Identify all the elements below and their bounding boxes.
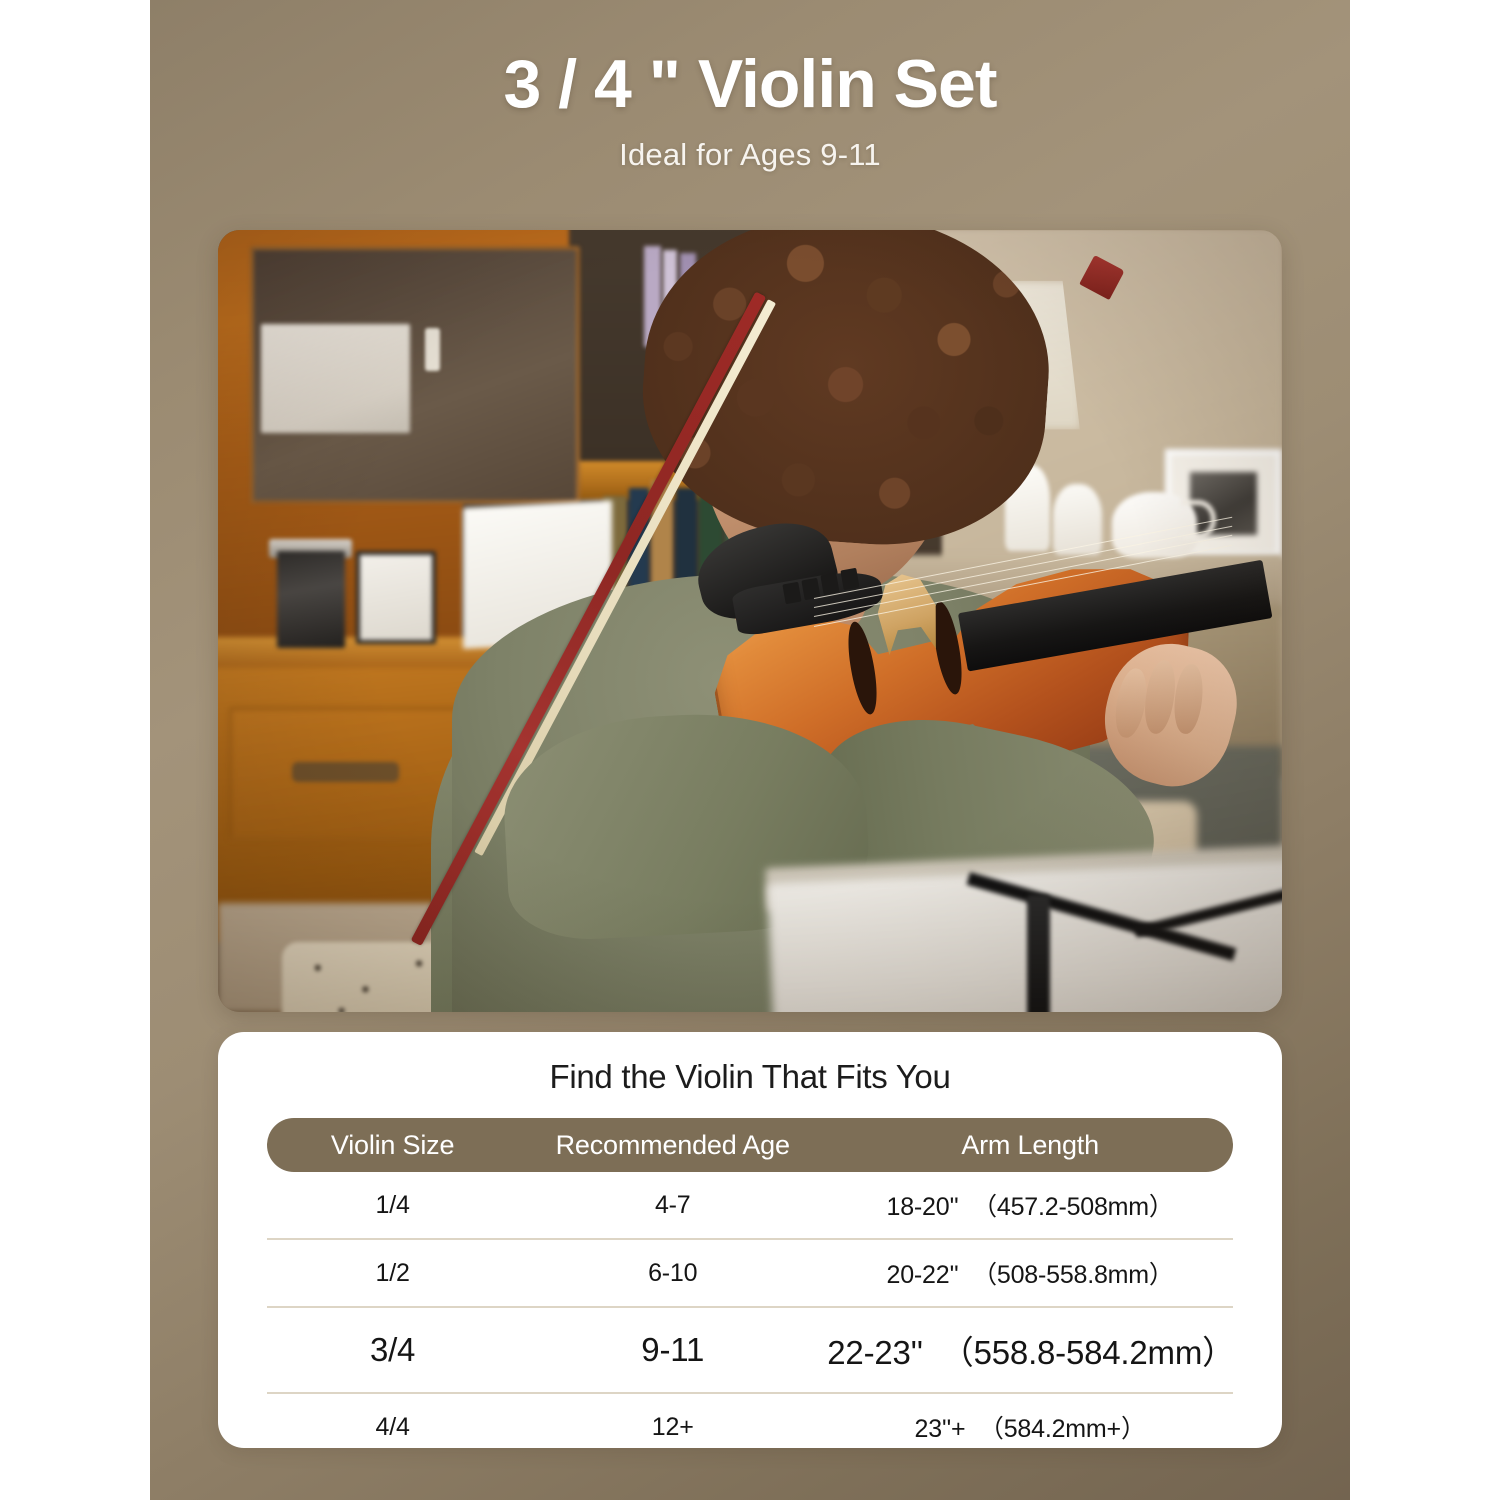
page-margin-right [1350, 0, 1500, 1500]
cell-recommended-age: 4-7 [518, 1191, 827, 1220]
violin-fine-tuner [840, 568, 859, 591]
cell-arm-length: 18-20'' （457.2-508mm） [827, 1187, 1233, 1223]
cell-recommended-age: 12+ [518, 1413, 827, 1442]
cell-violin-size: 3/4 [267, 1331, 518, 1369]
size-table-card: Find the Violin That Fits You Violin Siz… [218, 1032, 1282, 1448]
table-row: 4/4 12+ 23''+ （584.2mm+） [267, 1394, 1233, 1460]
table-row: 1/2 6-10 20-22'' （508-558.8mm） [267, 1240, 1233, 1306]
infographic-canvas: 3 / 4 " Violin Set Ideal for Ages 9-11 [0, 0, 1500, 1500]
cabinet-knob [425, 328, 440, 371]
column-header-recommended-age: Recommended Age [518, 1130, 827, 1161]
size-table-title: Find the Violin That Fits You [218, 1058, 1282, 1096]
metal-tin [277, 551, 345, 649]
storage-box [261, 324, 410, 433]
cell-violin-size: 1/4 [267, 1191, 518, 1220]
page-margin-left [0, 0, 150, 1500]
cell-violin-size: 4/4 [267, 1413, 518, 1442]
cell-arm-length: 22-23'' （558.8-584.2mm） [827, 1326, 1233, 1374]
cell-arm-length: 23''+ （584.2mm+） [827, 1409, 1233, 1445]
table-row-highlighted: 3/4 9-11 22-23'' （558.8-584.2mm） [267, 1308, 1233, 1392]
size-table-header-row: Violin Size Recommended Age Arm Length [267, 1118, 1233, 1172]
photo-scene [218, 230, 1282, 1012]
picture-frame-small [356, 551, 436, 645]
column-header-violin-size: Violin Size [267, 1130, 518, 1161]
column-header-arm-length: Arm Length [827, 1130, 1233, 1161]
cell-arm-length: 20-22'' （508-558.8mm） [827, 1255, 1233, 1291]
cell-violin-size: 1/2 [267, 1259, 518, 1288]
violin-fine-tuner [782, 582, 801, 605]
music-stand-post [1027, 895, 1050, 1012]
hero-photo [218, 230, 1282, 1012]
cell-recommended-age: 9-11 [518, 1331, 827, 1369]
page-subtitle: Ideal for Ages 9-11 [150, 137, 1350, 173]
header-block: 3 / 4 " Violin Set Ideal for Ages 9-11 [150, 48, 1350, 173]
page-title: 3 / 4 " Violin Set [150, 48, 1350, 121]
music-stand-board [767, 859, 1282, 1012]
drawer-handle [292, 762, 398, 782]
cell-recommended-age: 6-10 [518, 1259, 827, 1288]
table-row: 1/4 4-7 18-20'' （457.2-508mm） [267, 1172, 1233, 1238]
